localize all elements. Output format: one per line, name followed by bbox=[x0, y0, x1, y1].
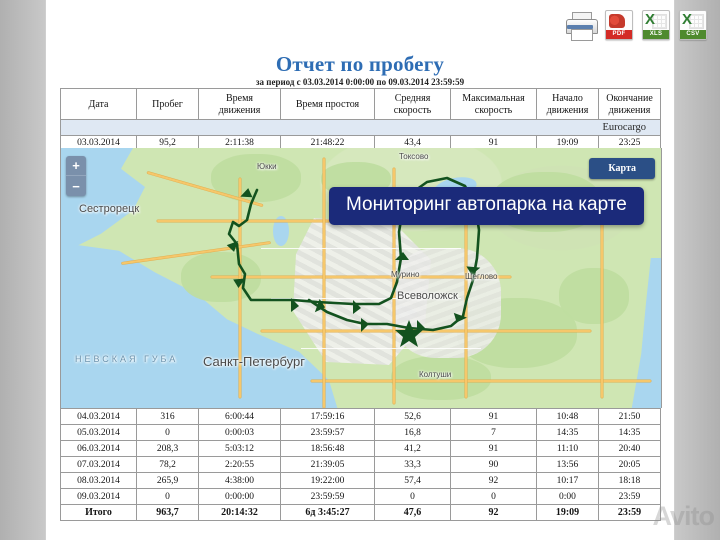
cell-date: 06.03.2014 bbox=[61, 441, 137, 457]
cell-moving: 0:00:03 bbox=[199, 425, 281, 441]
column-header-max-speed-l1: Максимальная bbox=[451, 93, 536, 105]
report-page: PDF X XLS X CSV Отчет по пробегу за пери… bbox=[46, 0, 674, 540]
cell-idle: 21:39:05 bbox=[281, 457, 375, 473]
cell-mileage: 0 bbox=[137, 489, 199, 505]
cell-mileage: 208,3 bbox=[137, 441, 199, 457]
cell-end: 21:50 bbox=[599, 409, 661, 425]
cell-max: 90 bbox=[451, 457, 537, 473]
cell-date: 08.03.2014 bbox=[61, 473, 137, 489]
cell-avg: 57,4 bbox=[375, 473, 451, 489]
column-header-max-speed-l2: скорость bbox=[451, 105, 536, 117]
cell-avg: 33,3 bbox=[375, 457, 451, 473]
column-header-moving-time-l2: движения bbox=[199, 105, 280, 117]
column-header-idle-time-l1: Время простоя bbox=[281, 99, 374, 111]
total-mileage: 963,7 bbox=[137, 505, 199, 521]
cell-start: 0:00 bbox=[537, 489, 599, 505]
table-row[interactable]: 08.03.2014 265,9 4:38:00 19:22:00 57,4 9… bbox=[61, 473, 661, 489]
cell-end: 20:40 bbox=[599, 441, 661, 457]
zoom-in-button[interactable]: + bbox=[66, 156, 86, 175]
column-header-start[interactable]: Начало движения bbox=[537, 89, 599, 121]
report-table-top: Eurocargo 03.03.2014 95,2 2:11:38 21:48:… bbox=[60, 119, 661, 151]
table-row[interactable]: 04.03.2014 316 6:00:44 17:59:16 52,6 91 … bbox=[61, 409, 661, 425]
cell-idle: 19:22:00 bbox=[281, 473, 375, 489]
cell-date: 04.03.2014 bbox=[61, 409, 137, 425]
table-row[interactable]: 07.03.2014 78,2 2:20:55 21:39:05 33,3 90… bbox=[61, 457, 661, 473]
cell-idle: 23:59:57 bbox=[281, 425, 375, 441]
page-title: Отчет по пробегу bbox=[46, 52, 674, 77]
page-margin-left bbox=[0, 0, 46, 540]
column-header-avg-speed-l2: скорость bbox=[375, 105, 450, 117]
cell-moving: 2:20:55 bbox=[199, 457, 281, 473]
column-header-start-l1: Начало bbox=[537, 93, 598, 105]
table-row[interactable]: 06.03.2014 208,3 5:03:12 18:56:48 41,2 9… bbox=[61, 441, 661, 457]
table-row[interactable]: 09.03.2014 0 0:00:00 23:59:59 0 0 0:00 2… bbox=[61, 489, 661, 505]
cell-start: 13:56 bbox=[537, 457, 599, 473]
total-moving: 20:14:32 bbox=[199, 505, 281, 521]
column-header-start-l2: движения bbox=[537, 105, 598, 117]
cell-date: 05.03.2014 bbox=[61, 425, 137, 441]
pdf-export-label: PDF bbox=[606, 30, 632, 39]
column-header-idle-time[interactable]: Время простоя bbox=[281, 89, 375, 121]
export-toolbar: PDF X XLS X CSV bbox=[566, 10, 707, 40]
cell-avg: 16,8 bbox=[375, 425, 451, 441]
cell-mileage: 265,9 bbox=[137, 473, 199, 489]
cell-max: 0 bbox=[451, 489, 537, 505]
cell-mileage: 316 bbox=[137, 409, 199, 425]
xls-x-glyph: X bbox=[645, 12, 655, 27]
cell-max: 92 bbox=[451, 473, 537, 489]
screenshot-root: PDF X XLS X CSV Отчет по пробегу за пери… bbox=[0, 0, 720, 540]
cell-start: 14:35 bbox=[537, 425, 599, 441]
cell-avg: 41,2 bbox=[375, 441, 451, 457]
total-idle: 6д 3:45:27 bbox=[281, 505, 375, 521]
csv-export-icon[interactable]: X CSV bbox=[679, 10, 707, 40]
zoom-out-button[interactable]: − bbox=[66, 177, 86, 196]
column-header-end-l2: движения bbox=[599, 105, 660, 117]
cell-avg: 0 bbox=[375, 489, 451, 505]
report-table-bottom: 04.03.2014 316 6:00:44 17:59:16 52,6 91 … bbox=[60, 408, 661, 521]
cell-idle: 23:59:59 bbox=[281, 489, 375, 505]
xls-export-icon[interactable]: X XLS bbox=[642, 10, 670, 40]
csv-x-glyph: X bbox=[682, 12, 692, 27]
cell-moving: 0:00:00 bbox=[199, 489, 281, 505]
cell-max: 91 bbox=[451, 441, 537, 457]
table-total-row: Итого 963,7 20:14:32 6д 3:45:27 47,6 92 … bbox=[61, 505, 661, 521]
map-zoom-control[interactable]: + − bbox=[66, 156, 86, 196]
cell-moving: 4:38:00 bbox=[199, 473, 281, 489]
csv-export-label: CSV bbox=[680, 30, 706, 39]
cell-max: 7 bbox=[451, 425, 537, 441]
cell-date: 07.03.2014 bbox=[61, 457, 137, 473]
cell-avg: 52,6 bbox=[375, 409, 451, 425]
pdf-export-icon[interactable]: PDF bbox=[605, 10, 633, 40]
cell-end: 23:59 bbox=[599, 489, 661, 505]
vehicle-group-row: Eurocargo bbox=[61, 120, 661, 136]
column-header-end-l1: Окончание bbox=[599, 93, 660, 105]
map-type-button[interactable]: Карта bbox=[589, 158, 655, 179]
total-end: 23:59 bbox=[599, 505, 661, 521]
cell-end: 18:18 bbox=[599, 473, 661, 489]
column-header-date-l1: Дата bbox=[61, 99, 136, 111]
column-header-moving-time[interactable]: Время движения bbox=[199, 89, 281, 121]
cell-start: 10:17 bbox=[537, 473, 599, 489]
cell-mileage: 0 bbox=[137, 425, 199, 441]
cell-date: 09.03.2014 bbox=[61, 489, 137, 505]
cell-start: 10:48 bbox=[537, 409, 599, 425]
cell-moving: 5:03:12 bbox=[199, 441, 281, 457]
cell-max: 91 bbox=[451, 409, 537, 425]
cell-idle: 18:56:48 bbox=[281, 441, 375, 457]
cell-mileage: 78,2 bbox=[137, 457, 199, 473]
report-period-subtitle: за период с 03.03.2014 0:00:00 по 09.03.… bbox=[46, 77, 674, 87]
column-header-mileage-l1: Пробег bbox=[137, 99, 198, 111]
table-row[interactable]: 05.03.2014 0 0:00:03 23:59:57 16,8 7 14:… bbox=[61, 425, 661, 441]
column-header-mileage[interactable]: Пробег bbox=[137, 89, 199, 121]
page-margin-right bbox=[674, 0, 720, 540]
vehicle-group-label: Eurocargo bbox=[61, 120, 661, 136]
cell-idle: 17:59:16 bbox=[281, 409, 375, 425]
total-max: 92 bbox=[451, 505, 537, 521]
column-header-avg-speed[interactable]: Средняя скорость bbox=[375, 89, 451, 121]
column-header-end[interactable]: Окончание движения bbox=[599, 89, 661, 121]
total-start: 19:09 bbox=[537, 505, 599, 521]
column-header-date[interactable]: Дата bbox=[61, 89, 137, 121]
column-header-max-speed[interactable]: Максимальная скорость bbox=[451, 89, 537, 121]
promo-banner: Мониторинг автопарка на карте bbox=[329, 187, 644, 225]
cell-end: 20:05 bbox=[599, 457, 661, 473]
total-label: Итого bbox=[61, 505, 137, 521]
total-avg: 47,6 bbox=[375, 505, 451, 521]
cell-moving: 6:00:44 bbox=[199, 409, 281, 425]
report-table-header: Дата Пробег Время движения Время простоя… bbox=[60, 88, 661, 121]
table-header-row: Дата Пробег Время движения Время простоя… bbox=[61, 89, 661, 121]
column-header-moving-time-l1: Время bbox=[199, 93, 280, 105]
xls-export-label: XLS bbox=[643, 30, 669, 39]
cell-end: 14:35 bbox=[599, 425, 661, 441]
column-header-avg-speed-l1: Средняя bbox=[375, 93, 450, 105]
cell-start: 11:10 bbox=[537, 441, 599, 457]
print-icon[interactable] bbox=[566, 12, 596, 40]
